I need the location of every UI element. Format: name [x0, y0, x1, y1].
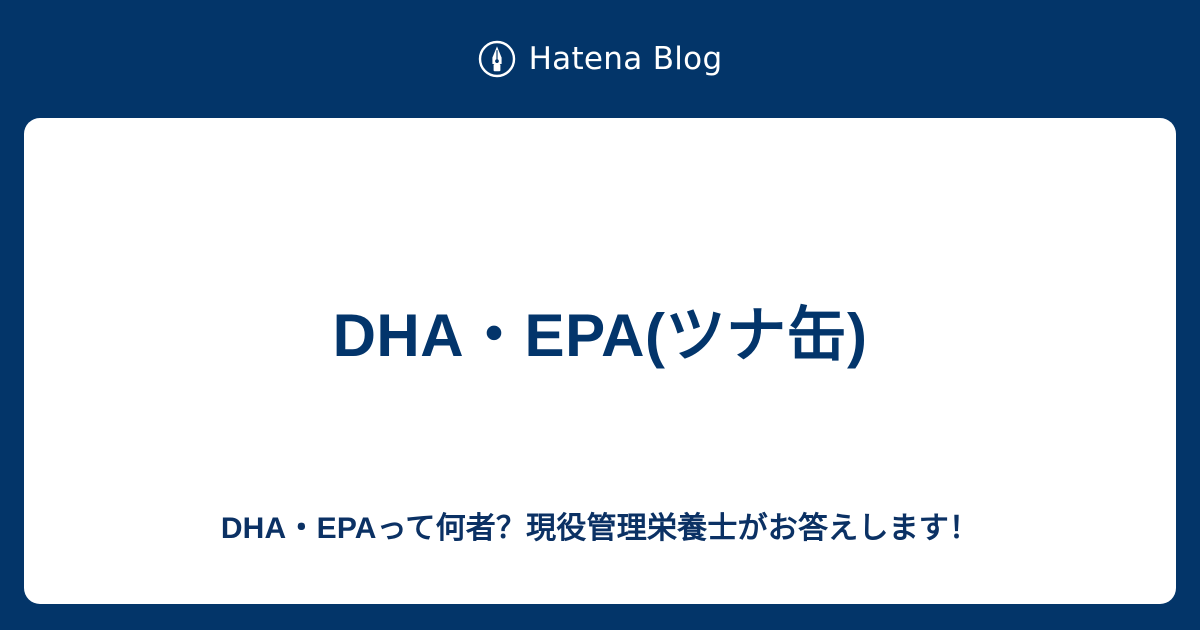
- hatena-pen-nib-icon: [478, 40, 516, 78]
- entry-card: DHA・EPA(ツナ缶) DHA・EPAって何者？現役管理栄養士がお答えします！: [24, 118, 1176, 604]
- hatena-blog-og-card: Hatena Blog DHA・EPA(ツナ缶) DHA・EPAって何者？現役管…: [0, 0, 1200, 630]
- brand-name-label: Hatena Blog: [529, 44, 723, 75]
- entry-title: DHA・EPA(ツナ缶): [24, 298, 1176, 373]
- brand-header: Hatena Blog: [0, 0, 1200, 118]
- blog-title: DHA・EPAって何者？現役管理栄養士がお答えします！: [24, 509, 1176, 548]
- hatena-blog-logo: Hatena Blog: [478, 37, 723, 81]
